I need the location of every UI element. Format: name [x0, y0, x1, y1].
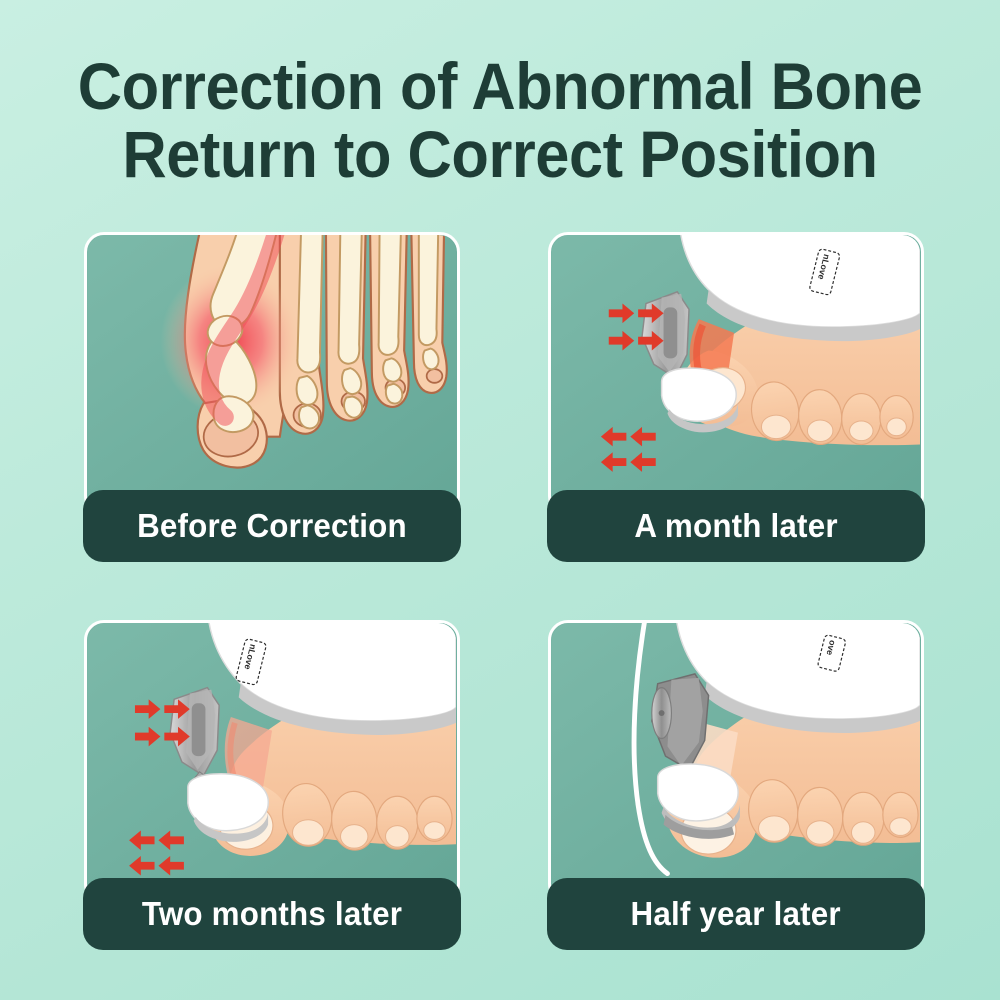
- caption-label: Half year later: [631, 895, 841, 933]
- panel-a-month-later[interactable]: nLove A month later: [548, 232, 924, 562]
- illustration-bunion-xray-foot: [84, 232, 460, 516]
- page-title-line-1: Correction of Abnormal Bone: [35, 52, 965, 120]
- caption-label: A month later: [634, 507, 837, 545]
- illustration-foot-with-bunion-corrector: nLove: [548, 232, 924, 516]
- caption-label: Before Correction: [137, 507, 407, 545]
- page-title: Correction of Abnormal Bone Return to Co…: [0, 52, 1000, 188]
- caption-label: Two months later: [142, 895, 402, 933]
- illustration-foot-with-bunion-corrector: nLove: [84, 620, 460, 904]
- page-title-line-2: Return to Correct Position: [35, 120, 965, 188]
- comparison-panel-grid: Before Correction: [84, 232, 924, 956]
- caption-bar: A month later: [547, 490, 925, 562]
- brace-toe-strap: [658, 764, 740, 839]
- caption-bar: Half year later: [547, 878, 925, 950]
- caption-bar: Two months later: [83, 878, 461, 950]
- panel-before-correction[interactable]: Before Correction: [84, 232, 460, 562]
- panel-half-year-later[interactable]: ove Half year later: [548, 620, 924, 950]
- illustration-foot-corrected-with-brace: ove: [548, 620, 924, 904]
- panel-two-months-later[interactable]: nLove Two months later: [84, 620, 460, 950]
- caption-bar: Before Correction: [83, 490, 461, 562]
